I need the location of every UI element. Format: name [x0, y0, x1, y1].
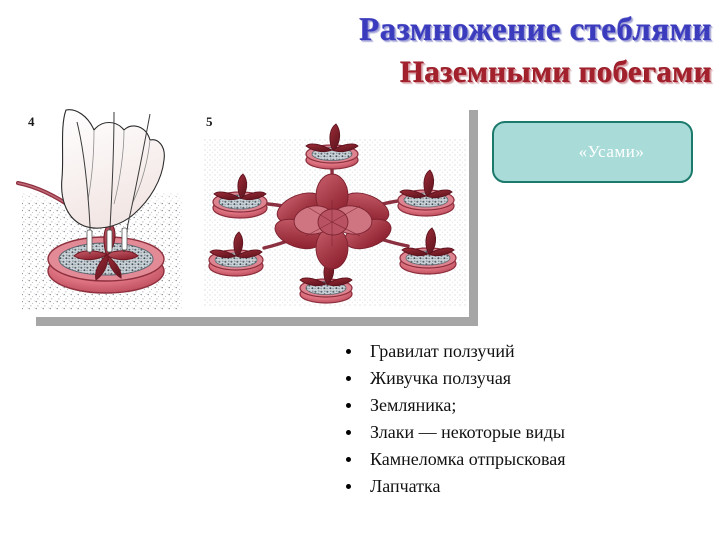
slide-root: Размножение стеблями Наземными побегами	[0, 0, 720, 540]
plant-list: Гравилат ползучий Живучка ползучая Земля…	[340, 338, 710, 500]
list-item-label: Злаки — некоторые виды	[370, 422, 565, 442]
callout-label: «Усами»	[541, 142, 645, 162]
list-item: Злаки — некоторые виды	[340, 419, 710, 446]
propagation-diagram-svg: 4	[14, 104, 469, 317]
figure-shadow-bottom	[36, 317, 478, 326]
bullet-dot-icon	[346, 484, 351, 489]
bullet-dot-icon	[346, 349, 351, 354]
list-item-label: Живучка ползучая	[370, 368, 511, 388]
panel-5-label: 5	[206, 114, 213, 129]
list-item: Живучка ползучая	[340, 365, 710, 392]
bullet-dot-icon	[346, 403, 351, 408]
list-item-label: Камнеломка отпрысковая	[370, 449, 565, 469]
list-item: Камнеломка отпрысковая	[340, 446, 710, 473]
list-item-label: Земляника;	[370, 395, 456, 415]
list-item-label: Гравилат ползучий	[370, 341, 515, 361]
panel-5: 5	[198, 104, 469, 317]
figure-shadow-right	[469, 110, 478, 326]
list-item-label: Лапчатка	[370, 476, 441, 496]
illustration-figure: 4	[14, 104, 478, 326]
panel-4-label: 4	[28, 114, 35, 129]
list-item: Гравилат ползучий	[340, 338, 710, 365]
list-item: Земляника;	[340, 392, 710, 419]
page-title-secondary: Наземными побегами	[0, 53, 712, 91]
page-title-primary: Размножение стеблями	[0, 10, 712, 50]
bullet-dot-icon	[346, 376, 351, 381]
figure-canvas: 4	[14, 104, 469, 317]
bullet-dot-icon	[346, 430, 351, 435]
callout-usami: «Усами»	[492, 121, 693, 183]
bullet-dot-icon	[346, 457, 351, 462]
list-item: Лапчатка	[340, 473, 710, 500]
panel-4: 4	[14, 104, 186, 317]
